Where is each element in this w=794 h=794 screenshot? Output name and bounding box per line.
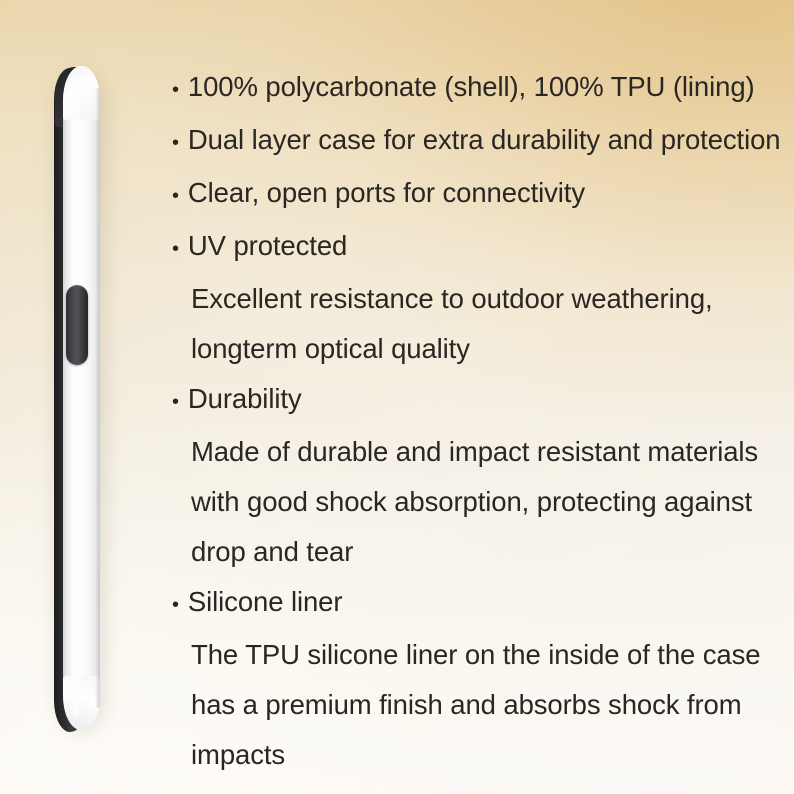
feature-heading: • 100% polycarbonate (shell), 100% TPU (… — [172, 62, 770, 115]
feature-description: Excellent resistance to outdoor weatheri… — [172, 274, 770, 374]
feature-list: • 100% polycarbonate (shell), 100% TPU (… — [172, 62, 770, 780]
feature-item: • Durability Made of durable and impact … — [172, 374, 770, 577]
bullet-icon: • — [172, 171, 179, 221]
feature-item: • UV protected Excellent resistance to o… — [172, 221, 770, 374]
bullet-icon: • — [172, 580, 179, 630]
feature-title: Clear, open ports for connectivity — [188, 168, 585, 218]
product-feature-poster: • 100% polycarbonate (shell), 100% TPU (… — [0, 0, 794, 794]
bullet-icon: • — [172, 65, 179, 115]
bullet-icon: • — [172, 118, 179, 168]
feature-item: • 100% polycarbonate (shell), 100% TPU (… — [172, 62, 770, 115]
feature-description: Made of durable and impact resistant mat… — [172, 427, 770, 577]
bullet-icon: • — [172, 377, 179, 427]
feature-heading: • Silicone liner — [172, 577, 770, 630]
feature-title: 100% polycarbonate (shell), 100% TPU (li… — [188, 62, 755, 112]
phone-case-image — [50, 62, 112, 738]
case-right-edge — [95, 88, 100, 708]
feature-title: Durability — [188, 374, 302, 424]
feature-title: Dual layer case for extra durability and… — [188, 115, 781, 165]
feature-item: • Clear, open ports for connectivity — [172, 168, 770, 221]
feature-title: Silicone liner — [188, 577, 343, 627]
feature-heading: • Clear, open ports for connectivity — [172, 168, 770, 221]
case-shell-highlight — [71, 78, 81, 718]
feature-item: • Dual layer case for extra durability a… — [172, 115, 770, 168]
feature-description: The TPU silicone liner on the inside of … — [172, 630, 770, 780]
feature-heading: • Dual layer case for extra durability a… — [172, 115, 770, 168]
feature-item: • Silicone liner The TPU silicone liner … — [172, 577, 770, 780]
feature-heading: • UV protected — [172, 221, 770, 274]
bullet-icon: • — [172, 224, 179, 274]
feature-heading: • Durability — [172, 374, 770, 427]
case-side-button — [66, 285, 88, 365]
feature-title: UV protected — [188, 221, 347, 271]
